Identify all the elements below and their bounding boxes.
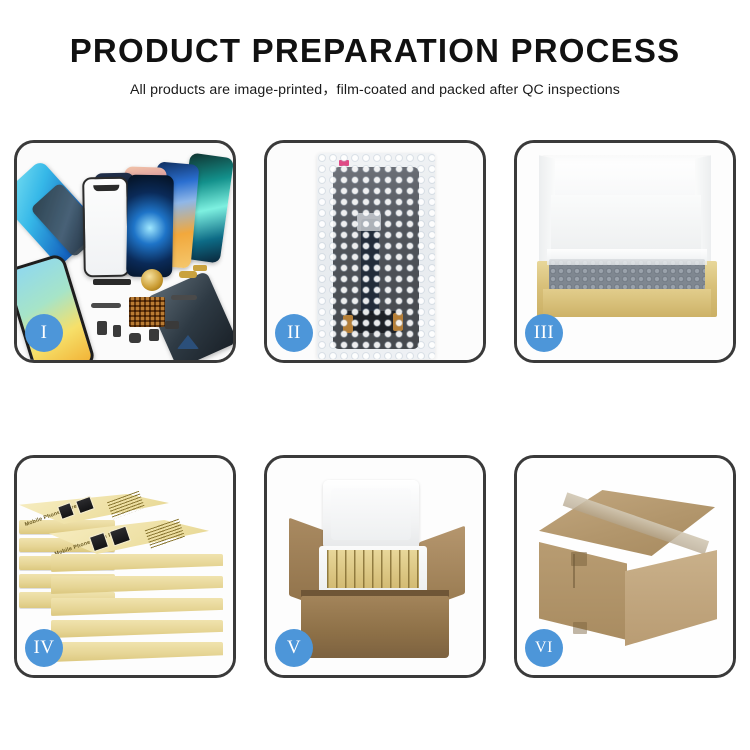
photo-open-gold-box-with-foam: III [517,143,733,360]
flex-cable-part-2 [171,295,197,300]
step-panel-4: Mobile Phone Spare Parts Mobile Phone Sp… [14,455,236,678]
gold-screw-part [193,265,207,271]
step-badge-1: I [25,314,63,352]
carton-body [301,596,449,658]
step-badge-3: III [525,314,563,352]
box-front-5 [51,642,223,662]
small-part-5 [165,321,179,329]
camera-lens-part [177,335,199,349]
photo-sealed-shipping-carton: VI [517,458,733,675]
step-badge-5: V [275,629,313,667]
step-panel-1: I [14,140,236,363]
phone-jellyfish-wallpaper [126,175,174,278]
photo-phone-screens-and-parts: I [17,143,233,360]
small-part-1 [97,321,107,335]
carton-corner-mark-bottom [573,622,587,634]
vibration-motor-part [141,269,163,291]
bubble-texture [317,153,435,359]
connector-board-part [129,297,165,327]
box-front-4 [51,620,223,638]
steps-grid: I II [14,140,736,678]
step-panel-3: III [514,140,736,363]
gold-contact-part [179,271,197,278]
foam-box-lid-inner [331,488,411,540]
bubble-wrap-bag [317,153,435,359]
stacked-gold-boxes-inside [327,550,419,588]
step-badge-2: II [275,314,313,352]
gold-box-front-face [543,289,711,317]
photo-stacked-retail-boxes: Mobile Phone Spare Parts Mobile Phone Sp… [17,458,233,675]
small-part-4 [149,329,159,341]
speaker-mesh-part [93,279,131,285]
product-preparation-infographic: PRODUCT PREPARATION PROCESS All products… [0,0,750,750]
step-panel-5: V [264,455,486,678]
step-panel-6: VI [514,455,736,678]
box-front-3 [51,598,223,616]
photo-carton-with-foam-box: V [267,458,483,675]
header: PRODUCT PREPARATION PROCESS All products… [0,0,750,99]
small-part-2 [113,325,121,337]
photo-bubble-wrapped-screen: II [267,143,483,360]
small-part-3 [129,333,141,343]
box-spec-lines-back [107,491,145,520]
step-badge-4: IV [25,629,63,667]
tempered-glass-screen [82,177,130,278]
carton-seam-line [573,554,575,588]
step-panel-2: II [264,140,486,363]
page-title: PRODUCT PREPARATION PROCESS [0,34,750,69]
flex-cable-part-1 [91,303,121,308]
page-subtitle: All products are image-printed，film-coat… [0,79,750,99]
box-front-2 [51,576,223,594]
white-foam-sheet [547,249,707,265]
box-front-1 [51,554,223,572]
step-badge-6: VI [525,629,563,667]
